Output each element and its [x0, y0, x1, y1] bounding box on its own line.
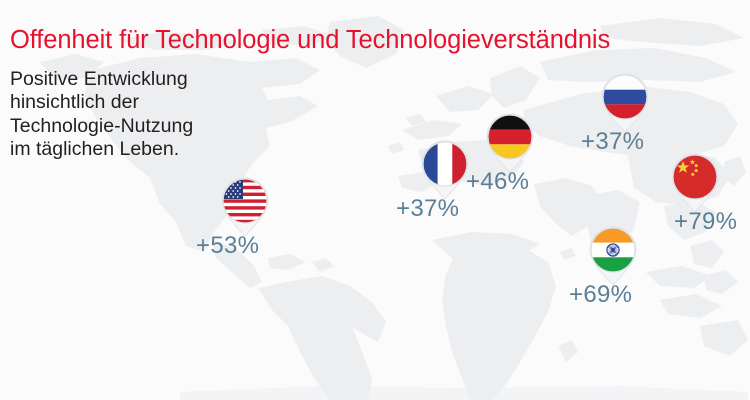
- pin-graphic-india: [586, 225, 640, 287]
- headline-block: Offenheit für Technologie und Technologi…: [10, 26, 740, 55]
- pin-graphic-germany: [483, 112, 537, 174]
- pin-graphic-russia: [598, 72, 652, 134]
- subtitle-line: hinsichtlich der: [10, 91, 270, 114]
- subtitle-line: im täglichen Leben.: [10, 138, 270, 161]
- pin-value-france: +37%: [396, 197, 459, 221]
- pin-value-china: +79%: [674, 210, 737, 234]
- subtitle-line: Technologie-Nutzung: [10, 115, 270, 138]
- map-pin-germany[interactable]: +46%: [483, 112, 537, 174]
- map-pin-russia[interactable]: +37%: [598, 72, 652, 134]
- map-pin-usa[interactable]: +53%: [218, 176, 272, 238]
- pin-value-usa: +53%: [196, 234, 259, 258]
- pin-graphic-france: [418, 139, 472, 201]
- subtitle-line: Positive Entwicklung: [10, 68, 270, 91]
- pin-graphic-china: [668, 152, 722, 214]
- pin-value-india: +69%: [569, 283, 632, 307]
- pin-value-germany: +46%: [466, 170, 529, 194]
- map-pin-france[interactable]: +37%: [418, 139, 472, 201]
- pin-graphic-usa: [218, 176, 272, 238]
- pin-value-russia: +37%: [581, 130, 644, 154]
- map-pin-india[interactable]: +69%: [586, 225, 640, 287]
- infographic-canvas: Offenheit für Technologie und Technologi…: [0, 0, 750, 400]
- page-subtitle: Positive Entwicklung hinsichtlich der Te…: [10, 68, 270, 162]
- ashoka-chakra: [607, 244, 619, 256]
- world-map-background: [0, 0, 750, 400]
- map-pin-china[interactable]: +79%: [668, 152, 722, 214]
- page-title: Offenheit für Technologie und Technologi…: [10, 26, 740, 55]
